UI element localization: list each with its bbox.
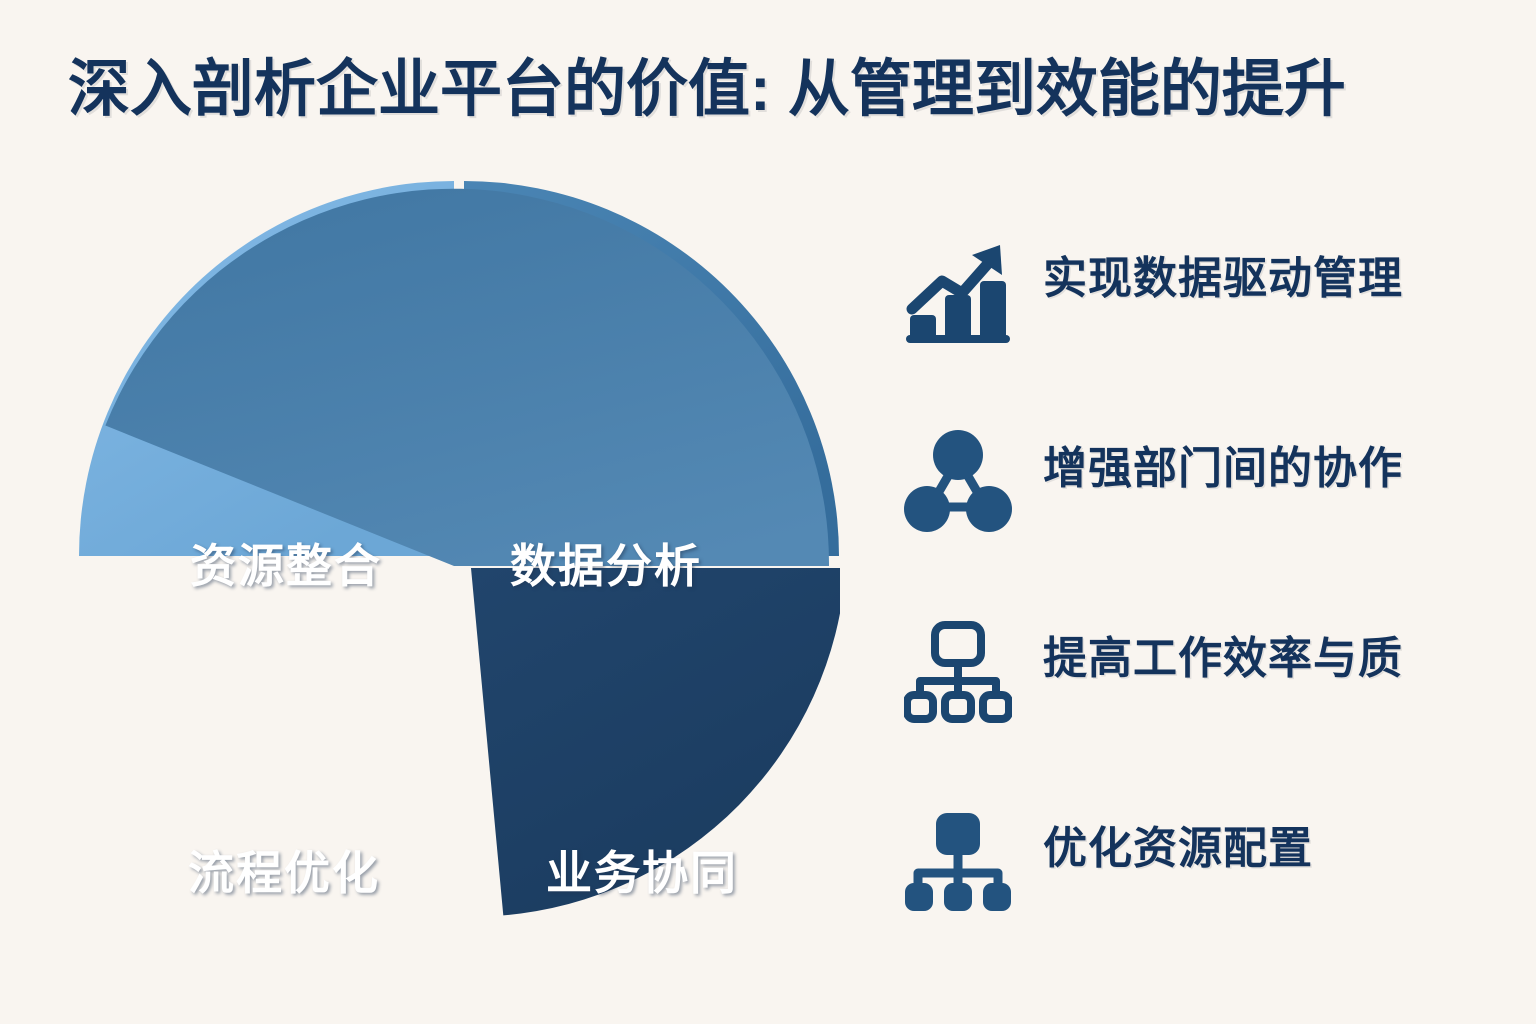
page-title: 深入剖析企业平台的价值: 从管理到效能的提升	[68, 52, 1488, 128]
list-item[interactable]: 提高工作效率与质	[890, 576, 1510, 766]
network-nodes-icon	[890, 427, 1025, 535]
pie-label-resource-integration: 资源整合	[190, 530, 382, 596]
pie-label-data-analysis: 数据分析	[510, 530, 702, 596]
bar-chart-growth-icon	[890, 237, 1025, 345]
infographic-page: 深入剖析企业平台的价值: 从管理到效能的提升	[0, 0, 1536, 1024]
benefits-list: 实现数据驱动管理 增强部门间的协作	[890, 196, 1510, 956]
benefit-label: 优化资源配置	[1043, 812, 1313, 876]
pie-chart: 资源整合 数据分析 流程优化 业务协同	[78, 175, 840, 937]
pie-label-business-collaboration: 业务协同	[546, 837, 738, 903]
hierarchy-filled-icon	[890, 807, 1025, 915]
list-item[interactable]: 实现数据驱动管理	[890, 196, 1510, 386]
list-item[interactable]: 增强部门间的协作	[890, 386, 1510, 576]
benefit-label: 实现数据驱动管理	[1043, 242, 1403, 306]
list-item[interactable]: 优化资源配置	[890, 766, 1510, 956]
hierarchy-outline-icon	[890, 617, 1025, 725]
benefit-label: 提高工作效率与质	[1043, 622, 1403, 686]
benefit-label: 增强部门间的协作	[1043, 432, 1403, 496]
pie-label-process-optimization: 流程优化	[188, 837, 380, 903]
